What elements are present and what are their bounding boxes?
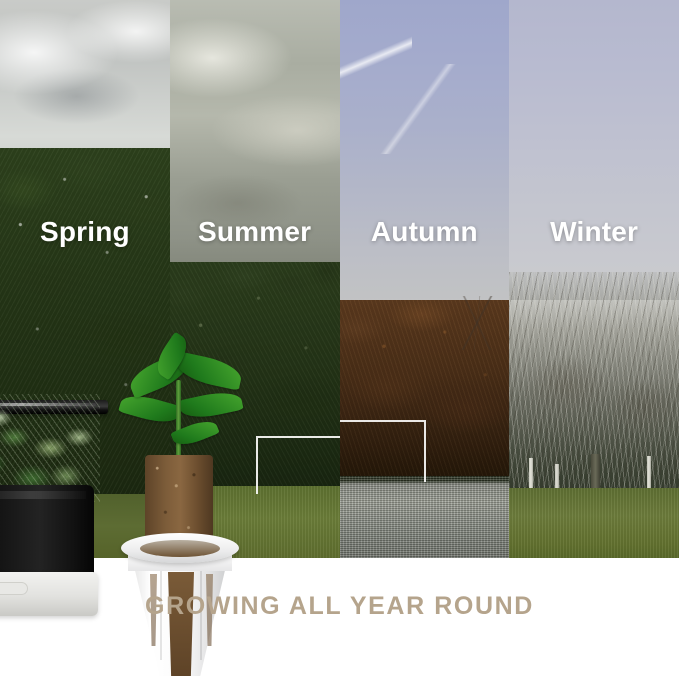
net-cup-body [134,566,226,676]
season-panel-winter[interactable]: Winter [509,0,679,558]
season-panel-autumn[interactable]: Autumn [340,0,510,558]
season-panel-summer[interactable]: Summer [170,0,340,558]
goal-post-autumn [340,420,426,482]
tree-canopy-spring [0,148,170,496]
season-strip: Spring Summer Autumn [0,0,679,558]
grass-summer [170,486,340,558]
bare-branch-autumn [449,296,505,350]
goal-post-summer [256,436,340,494]
frosty-grass-autumn [340,476,510,558]
banner-caption: GROWING ALL YEAR ROUND [0,592,679,621]
grass-winter [509,488,679,558]
contrail-secondary-icon [358,64,478,154]
net-cup-slot [168,572,194,676]
season-label-summer: Summer [170,216,340,248]
sky-winter [509,0,679,300]
season-label-winter: Winter [509,216,679,248]
season-label-spring: Spring [0,216,170,248]
seasonal-banner: Spring Summer Autumn [0,0,679,679]
grass-spring [0,494,170,558]
season-label-autumn: Autumn [340,216,510,248]
season-panel-spring[interactable]: Spring [0,0,170,558]
